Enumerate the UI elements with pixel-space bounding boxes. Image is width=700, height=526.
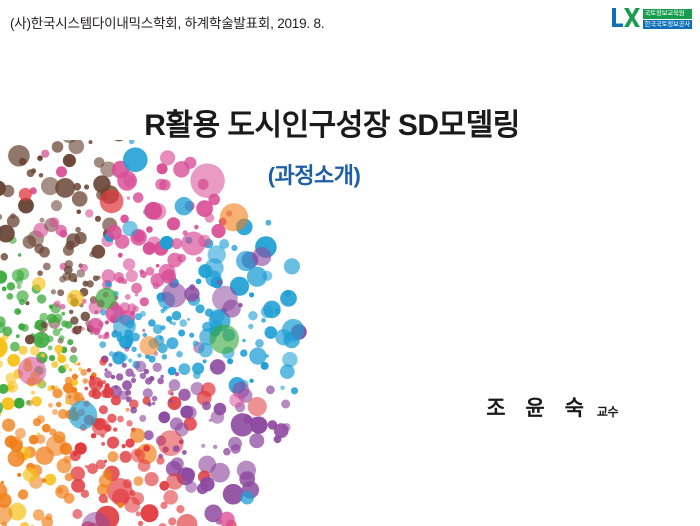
author-block: 조 윤 숙 교수 [486, 392, 618, 422]
conference-header-text: (사)한국시스템다이내믹스학회, 하계학술발표회, 2019. 8. [10, 12, 324, 32]
author-role: 교수 [597, 403, 618, 422]
lx-logo-mark-icon [610, 6, 640, 32]
slide-canvas: (사)한국시스템다이내믹스학회, 하계학술발표회, 2019. 8. 국토정보교… [0, 0, 700, 526]
logo-line-2: 한국국토정보공사 [643, 20, 692, 30]
slide-title: R활용 도시인구성장 SD모델링 [0, 100, 664, 144]
slide-subtitle: (과정소개) [0, 158, 628, 190]
author-name: 조 윤 숙 [486, 392, 591, 422]
radial-dot-burst-graphic [0, 140, 308, 526]
logo-line-1: 국토정보교육원 [643, 9, 692, 19]
organization-logo: 국토정보교육원 한국국토정보공사 [610, 6, 692, 32]
logo-text-block: 국토정보교육원 한국국토정보공사 [643, 9, 692, 29]
